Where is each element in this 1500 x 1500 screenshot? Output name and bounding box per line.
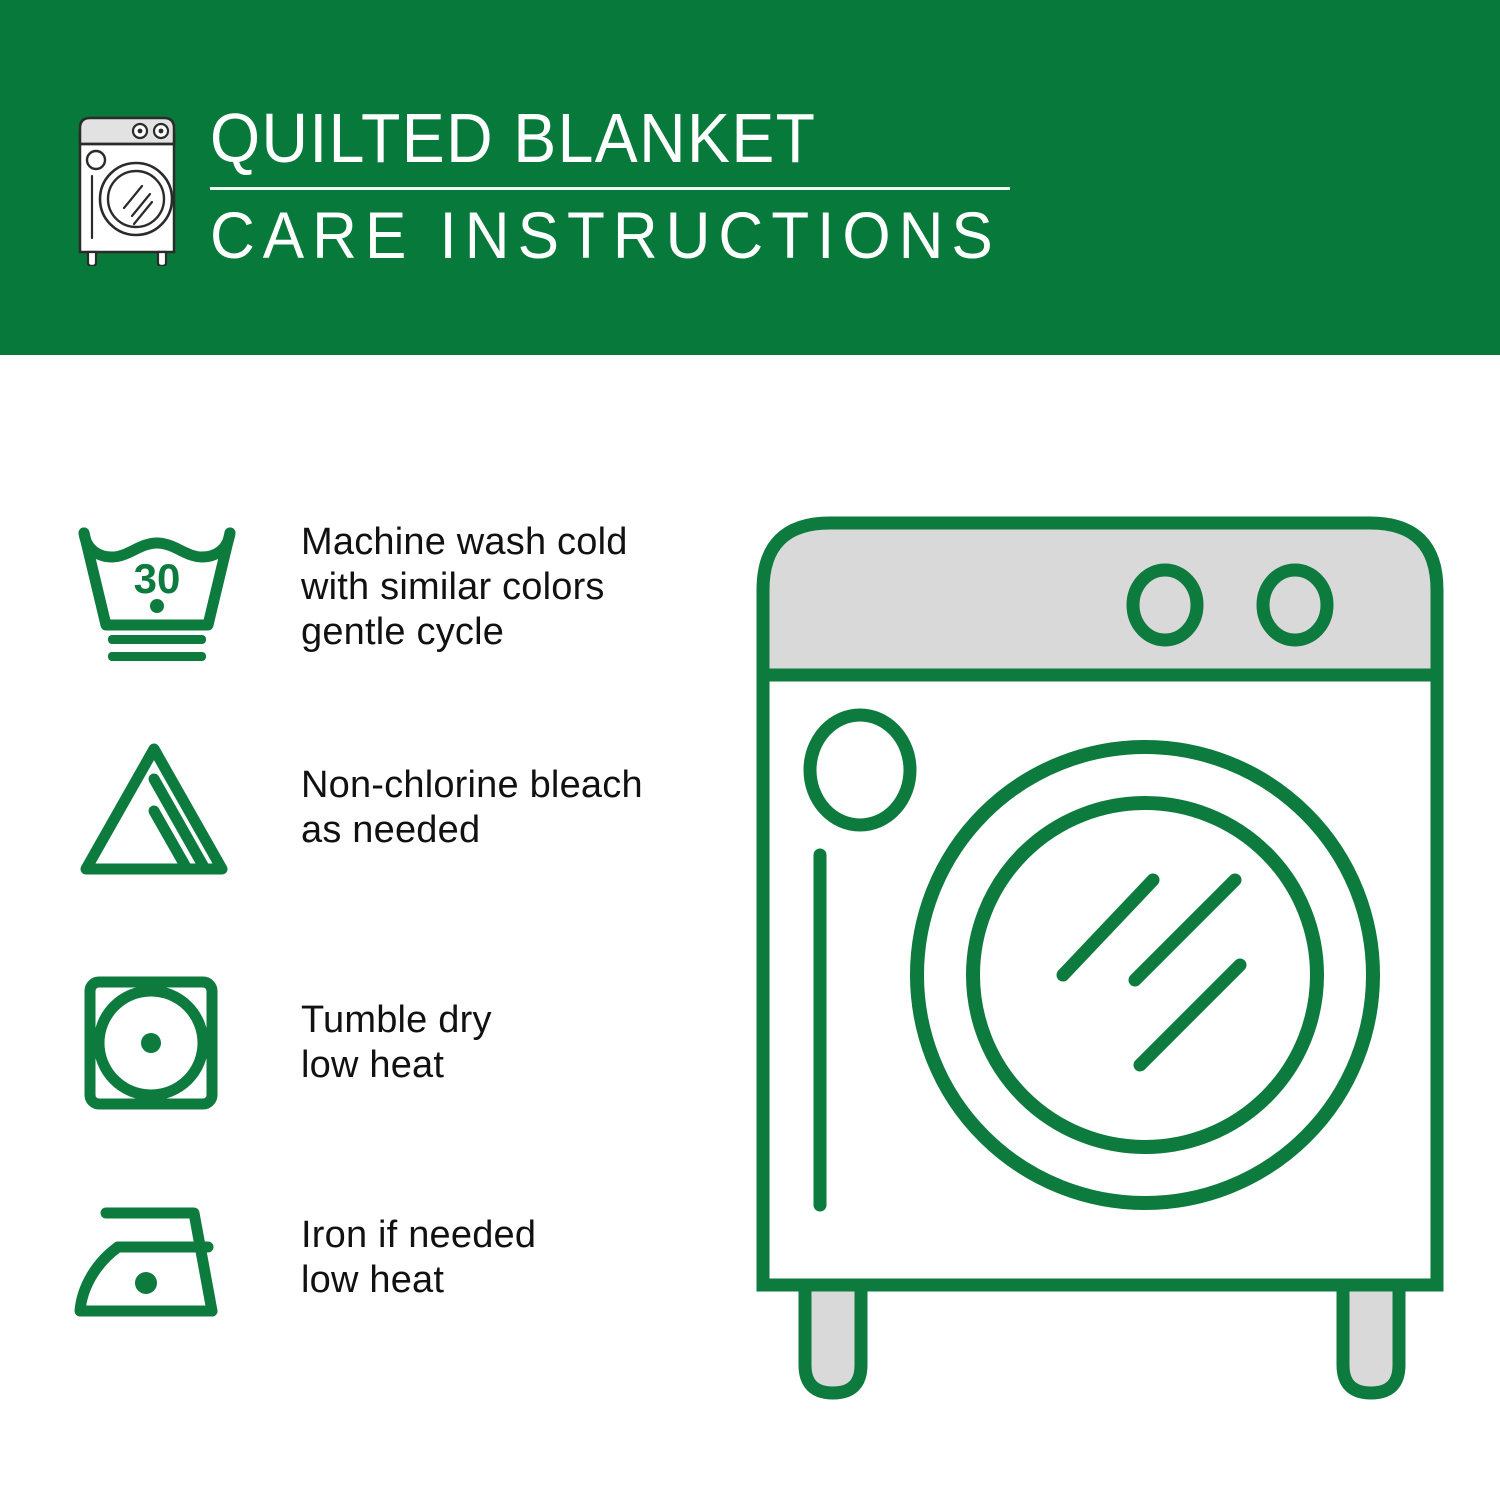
care-item-tumble-dry-label: Tumble dry low heat <box>301 998 492 1088</box>
wash-tub-30-gentle-icon: 30 <box>72 510 247 665</box>
page-title: QUILTED BLANKET <box>210 100 984 176</box>
care-item-iron-label: Iron if needed low heat <box>301 1213 536 1303</box>
care-instruction-list: 30 Machine wash cold with similar colors… <box>0 355 720 1500</box>
leg-left <box>805 1285 861 1393</box>
wash-temperature-label: 30 <box>134 555 181 602</box>
care-item-bleach: Non-chlorine bleach as needed <box>72 730 712 885</box>
title-divider <box>210 187 1010 190</box>
care-item-wash-label: Machine wash cold with similar colors ge… <box>301 520 628 655</box>
leg-right <box>1343 1285 1399 1393</box>
control-panel <box>763 523 1437 675</box>
care-item-bleach-label: Non-chlorine bleach as needed <box>301 763 643 853</box>
care-item-tumble-dry: Tumble dry low heat <box>72 965 712 1120</box>
bleach-triangle-non-chlorine-icon <box>72 730 247 885</box>
washing-machine-icon <box>62 96 192 266</box>
iron-low-heat-icon <box>72 1180 247 1335</box>
tumble-dry-low-heat-icon <box>72 965 247 1120</box>
page-subtitle: CARE INSTRUCTIONS <box>210 200 1001 270</box>
header-content: QUILTED BLANKET CARE INSTRUCTIONS <box>62 96 1051 270</box>
care-item-iron: Iron if needed low heat <box>72 1180 712 1335</box>
care-item-wash: 30 Machine wash cold with similar colors… <box>72 510 712 665</box>
header-banner: QUILTED BLANKET CARE INSTRUCTIONS <box>0 0 1500 355</box>
front-load-washing-machine-illustration <box>745 495 1455 1425</box>
header-title-group: QUILTED BLANKET CARE INSTRUCTIONS <box>210 96 1051 270</box>
